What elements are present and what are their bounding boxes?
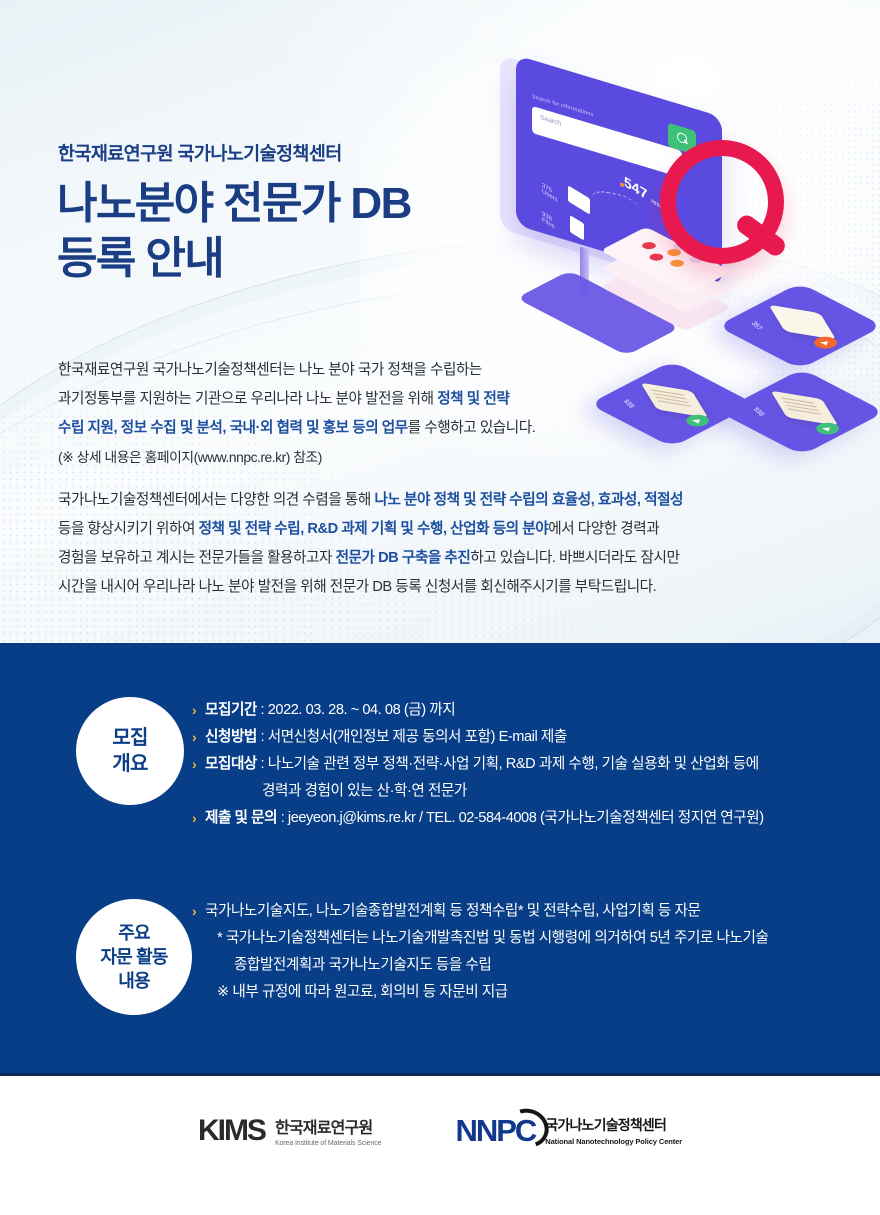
detail-label: 제출 및 문의 bbox=[205, 810, 277, 826]
badge-recruitment-overview: 모집 개요 bbox=[76, 697, 184, 805]
text-run: 를 수행하고 있습니다. bbox=[408, 420, 536, 436]
text-run: 과기정통부를 지원하는 기관으로 우리나라 나노 분야 발전을 위해 bbox=[58, 391, 437, 407]
badge-advisory-activities-line-3: 내용 bbox=[118, 969, 150, 993]
kims-name-ko: 한국재료연구원 bbox=[275, 1114, 382, 1138]
detail-value: ※ 내부 규정에 따라 원고료, 회의비 등 자문비 지급 bbox=[217, 984, 508, 1000]
purpose-paragraph: 국가나노기술정책센터에서는 다양한 의견 수렴을 통해 나노 분야 정책 및 전… bbox=[58, 486, 848, 602]
detail-row: * 국가나노기술정책센터는 나노기술개발촉진법 및 동법 시행령에 의거하여 5… bbox=[192, 925, 880, 952]
folder-icon bbox=[769, 305, 837, 340]
highlight-run: 정책 및 전략 수립, R&D 과제 기획 및 수행, 산업화 등의 분야 bbox=[199, 521, 549, 537]
node-dot-2 bbox=[647, 252, 666, 262]
highlight-run: 수립 지원, 정보 수집 및 분석, 국내·외 협력 및 홍보 등의 업무 bbox=[58, 420, 408, 436]
node-dot-4 bbox=[667, 258, 686, 268]
text-run: 등을 향상시키기 위하여 bbox=[58, 521, 199, 537]
detail-row: ※ 내부 규정에 따라 원고료, 회의비 등 자문비 지급 bbox=[192, 979, 880, 1006]
nnpc-text: 국가나노기술정책센터 National Nanotechnology Polic… bbox=[545, 1115, 682, 1146]
badge-advisory-activities-line-1: 주요 bbox=[118, 921, 150, 945]
document-icon bbox=[771, 391, 839, 426]
poster-root: 한국재료연구원 국가나노기술정책센터 나노분야 전문가 DB 등록 안내 Sea… bbox=[0, 0, 880, 1215]
stat-tile-a bbox=[568, 185, 590, 214]
detail-row: ›모집기간 : 2022. 03. 28. ~ 04. 08 (금) 까지 bbox=[192, 697, 880, 724]
highlight-run: 나노 분야 정책 및 전략 수립의 효율성, 효과성, 적절성 bbox=[374, 492, 683, 508]
detail-label: 모집기간 bbox=[205, 702, 257, 718]
nnpc-name-en: National Nanotechnology Policy Center bbox=[545, 1137, 682, 1146]
badge-recruitment-overview-line-1: 모집 bbox=[112, 725, 147, 751]
badge-advisory-activities-line-2: 자문 활동 bbox=[100, 945, 167, 969]
page-title: 나노분야 전문가 DB 등록 안내 bbox=[57, 176, 411, 286]
chevron-right-icon: › bbox=[192, 898, 196, 925]
kims-name-en: Korea Institute of Materials Science bbox=[275, 1140, 382, 1147]
detail-label: 신청방법 bbox=[205, 729, 257, 745]
detail-row: ›제출 및 문의 : jeeyeon.j@kims.re.kr / TEL. 0… bbox=[192, 805, 880, 832]
stat-card-folders-badge bbox=[810, 334, 842, 351]
detail-value: 서면신청서(개인정보 제공 동의서 포함) E-mail 제출 bbox=[268, 729, 567, 745]
kims-wordmark: KIMS bbox=[198, 1116, 265, 1146]
detail-value: * 국가나노기술정책센터는 나노기술개발촉진법 및 동법 시행령에 의거하여 5… bbox=[217, 930, 768, 946]
chevron-right-icon: › bbox=[192, 697, 196, 724]
footer: KIMS 한국재료연구원 Korea Institute of Material… bbox=[0, 1076, 880, 1215]
detail-value: 국가나노기술지도, 나노기술종합발전계획 등 정책수립* 및 전략수립, 사업기… bbox=[205, 903, 700, 919]
recruitment-overview-list: ›모집기간 : 2022. 03. 28. ~ 04. 08 (금) 까지›신청… bbox=[192, 697, 880, 832]
highlight-run: 정책 및 전략 bbox=[437, 391, 509, 407]
text-run: 국가나노기술정책센터에서는 다양한 의견 수렴을 통해 bbox=[58, 492, 374, 508]
detail-label: 모집대상 bbox=[205, 756, 257, 772]
badge-recruitment-overview-line-2: 개요 bbox=[112, 751, 147, 777]
search-input-placeholder: Search bbox=[540, 114, 561, 127]
nnpc-wordmark: NNPC bbox=[455, 1115, 535, 1146]
detail-value: jeeyeon.j@kims.re.kr / TEL. 02-584-4008 … bbox=[288, 810, 764, 826]
search-icon bbox=[677, 131, 687, 144]
chevron-right-icon: › bbox=[192, 724, 196, 751]
advisory-activities-list: ›국가나노기술지도, 나노기술종합발전계획 등 정책수립* 및 전략수립, 사업… bbox=[192, 898, 880, 1006]
node-dot-1 bbox=[639, 241, 658, 251]
stat-card-folders-count: 357 bbox=[750, 320, 765, 331]
up-arrow-icon bbox=[822, 426, 833, 432]
stat-b: 938Files bbox=[542, 211, 555, 231]
detail-row: ›신청방법 : 서면신청서(개인정보 제공 동의서 포함) E-mail 제출 bbox=[192, 724, 880, 751]
eyebrow-organisation: 한국재료연구원 국가나노기술정책센터 bbox=[58, 140, 342, 166]
chevron-right-icon: › bbox=[192, 751, 196, 778]
badge-advisory-activities: 주요 자문 활동 내용 bbox=[76, 899, 192, 1015]
up-arrow-icon bbox=[820, 340, 831, 346]
chevron-right-icon: › bbox=[192, 805, 196, 832]
text-run: 시간을 내시어 우리나라 나노 분야 발전을 위해 전문가 DB 등록 신청서를… bbox=[58, 579, 656, 595]
detail-value: 경력과 경험이 있는 산·학·연 전문가 bbox=[262, 783, 467, 799]
text-run: 경험을 보유하고 계시는 전문가들을 활용하고자 bbox=[58, 550, 336, 566]
text-run: 에서 다양한 경력과 bbox=[548, 521, 659, 537]
stat-a: 375Users bbox=[542, 183, 558, 204]
text-run: 한국재료연구원 국가나노기술정책센터는 나노 분야 국가 정책을 수립하는 bbox=[58, 362, 482, 378]
intro-paragraph: 한국재료연구원 국가나노기술정책센터는 나노 분야 국가 정책을 수립하는과기정… bbox=[58, 356, 758, 473]
nnpc-name-ko: 국가나노기술정책센터 bbox=[545, 1115, 682, 1135]
logo-nnpc[interactable]: NNPC 국가나노기술정책센터 National Nanotechnology … bbox=[455, 1115, 682, 1146]
detail-value: 2022. 03. 28. ~ 04. 08 (금) 까지 bbox=[268, 702, 455, 718]
footer-logos: KIMS 한국재료연구원 Korea Institute of Material… bbox=[0, 1114, 880, 1147]
detail-value: 나노기술 관련 정부 정책·전략·사업 기획, R&D 과제 수행, 기술 실용… bbox=[268, 756, 759, 772]
detail-row: 경력과 경험이 있는 산·학·연 전문가 bbox=[192, 778, 880, 805]
kims-text: 한국재료연구원 Korea Institute of Materials Sci… bbox=[275, 1114, 382, 1147]
text-run: 하고 있습니다. 바쁘시더라도 잠시만 bbox=[470, 550, 679, 566]
stat-tile-b bbox=[570, 215, 584, 240]
detail-row: ›국가나노기술지도, 나노기술종합발전계획 등 정책수립* 및 전략수립, 사업… bbox=[192, 898, 880, 925]
logo-kims[interactable]: KIMS 한국재료연구원 Korea Institute of Material… bbox=[198, 1114, 382, 1147]
detail-row: ›모집대상 : 나노기술 관련 정부 정책·전략·사업 기획, R&D 과제 수… bbox=[192, 751, 880, 778]
search-input[interactable]: Search bbox=[532, 106, 682, 178]
detail-value: 종합발전계획과 국가나노기술지도 등을 수립 bbox=[234, 957, 491, 973]
stat-card-files-right-badge bbox=[812, 420, 844, 437]
text-run: (※ 상세 내용은 홈페이지(www.nnpc.re.kr) 참조) bbox=[58, 450, 322, 465]
detail-row: 종합발전계획과 국가나노기술지도 등을 수립 bbox=[192, 952, 880, 979]
highlight-run: 전문가 DB 구축을 추진 bbox=[336, 550, 471, 566]
